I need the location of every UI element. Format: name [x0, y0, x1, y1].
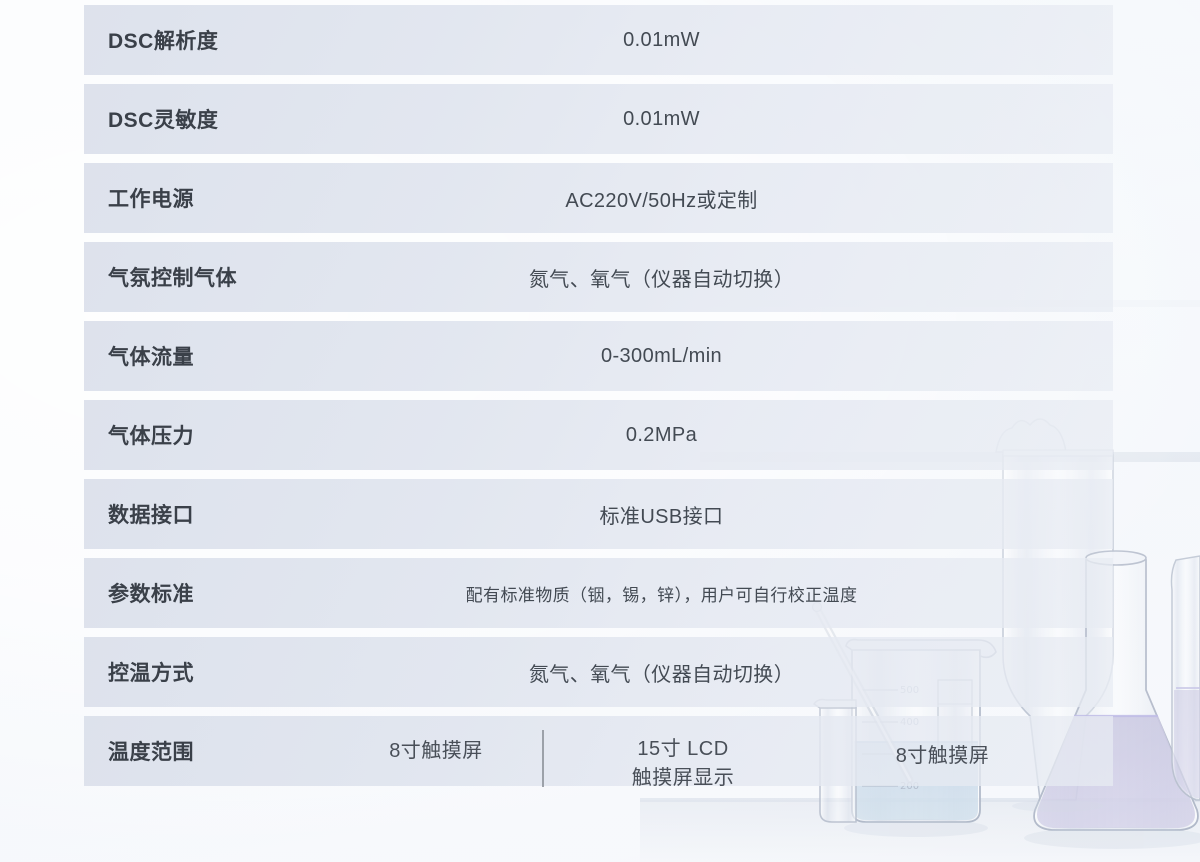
table-row-screens: 温度范围 8寸触摸屏 15寸 LCD 触摸屏显示 8寸触摸屏	[84, 716, 1113, 786]
screen-options: 8寸触摸屏 15寸 LCD 触摸屏显示 8寸触摸屏	[330, 716, 1113, 786]
spec-value: 0.01mW	[330, 29, 1113, 52]
spec-label: 温度范围	[84, 736, 330, 766]
screen-option-left: 8寸触摸屏	[330, 716, 542, 786]
screen-option-line2: 触摸屏显示	[632, 764, 735, 793]
spec-value: 0.01mW	[330, 108, 1113, 131]
spec-label: 数据接口	[84, 499, 330, 529]
table-row: 数据接口 标准USB接口	[84, 479, 1113, 549]
spec-value: AC220V/50Hz或定制	[330, 184, 1113, 213]
spec-value: 标准USB接口	[330, 500, 1113, 529]
table-row: 气体压力 0.2MPa	[84, 400, 1113, 470]
spec-label: 气氛控制气体	[84, 262, 330, 292]
screen-option-line1: 15寸 LCD	[637, 735, 728, 764]
screen-option-center: 15寸 LCD 触摸屏显示	[542, 729, 824, 799]
table-row: 控温方式 氮气、氧气（仪器自动切换）	[84, 637, 1113, 707]
table-row: 气体流量 0-300mL/min	[84, 321, 1113, 391]
screen-option-right: 8寸触摸屏	[798, 721, 1087, 791]
spec-label: DSC灵敏度	[84, 104, 330, 134]
spec-label: 气体流量	[84, 341, 330, 371]
table-row: 工作电源 AC220V/50Hz或定制	[84, 163, 1113, 233]
glass-test-tube-edge	[1172, 556, 1200, 800]
spec-value: 氮气、氧气（仪器自动切换）	[330, 658, 1113, 687]
spec-table: DSC解析度 0.01mW DSC灵敏度 0.01mW 工作电源 AC220V/…	[84, 5, 1113, 795]
screen-option-line1: 8寸触摸屏	[389, 737, 483, 766]
spec-value: 0.2MPa	[330, 424, 1113, 447]
spec-value: 配有标准物质（铟，锡，锌），用户可自行校正温度	[330, 581, 1113, 606]
table-row: 参数标准 配有标准物质（铟，锡，锌），用户可自行校正温度	[84, 558, 1113, 628]
spec-value: 0-300mL/min	[330, 345, 1113, 368]
spec-label: 控温方式	[84, 657, 330, 687]
table-row: DSC灵敏度 0.01mW	[84, 84, 1113, 154]
spec-value: 氮气、氧气（仪器自动切换）	[330, 263, 1113, 292]
table-row: 气氛控制气体 氮气、氧气（仪器自动切换）	[84, 242, 1113, 312]
screen-option-line1: 8寸触摸屏	[896, 742, 990, 771]
spec-label: DSC解析度	[84, 25, 330, 55]
spec-label: 参数标准	[84, 578, 330, 608]
spec-label: 气体压力	[84, 420, 330, 450]
product-spec-page: 500 400 300 200	[0, 0, 1200, 862]
table-row: DSC解析度 0.01mW	[84, 5, 1113, 75]
spec-label: 工作电源	[84, 183, 330, 213]
